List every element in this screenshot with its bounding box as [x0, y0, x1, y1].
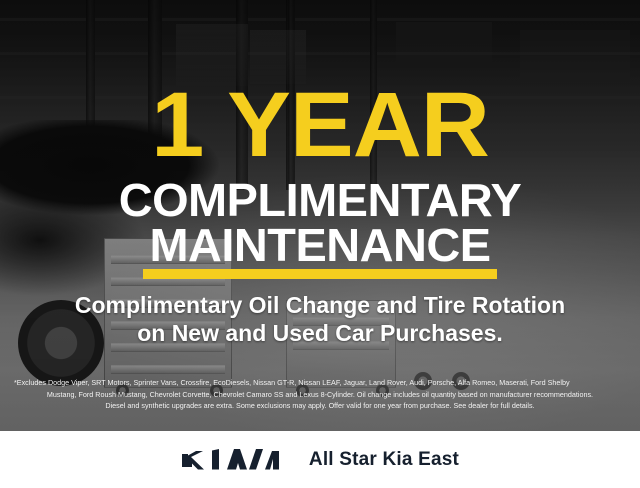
kia-logo: [181, 447, 285, 473]
promotional-banner: 1 YEAR COMPLIMENTARY MAINTENANCE Complim…: [0, 0, 640, 488]
disclaimer-text: *Excludes Dodge Viper, SRT Motors, Sprin…: [14, 377, 626, 412]
disclaimer-line-3: Diesel and synthetic upgrades are extra.…: [14, 400, 626, 412]
dealer-name: All Star Kia East: [309, 449, 459, 471]
disclaimer-line-1: *Excludes Dodge Viper, SRT Motors, Sprin…: [14, 377, 626, 389]
banner-content: 1 YEAR COMPLIMENTARY MAINTENANCE Complim…: [0, 0, 640, 431]
footer-bar: All Star Kia East: [0, 431, 640, 488]
tagline: Complimentary Oil Change and Tire Rotati…: [0, 291, 640, 347]
headline-maintenance: MAINTENANCE: [0, 222, 640, 268]
tagline-line-1: Complimentary Oil Change and Tire Rotati…: [0, 291, 640, 319]
headline-complimentary: COMPLIMENTARY: [0, 177, 640, 223]
disclaimer-line-2: Mustang, Ford Roush Mustang, Chevrolet C…: [14, 389, 626, 401]
tagline-line-2: on New and Used Car Purchases.: [0, 319, 640, 347]
headline-year: 1 YEAR: [0, 84, 640, 166]
yellow-divider-bar: [143, 269, 497, 279]
